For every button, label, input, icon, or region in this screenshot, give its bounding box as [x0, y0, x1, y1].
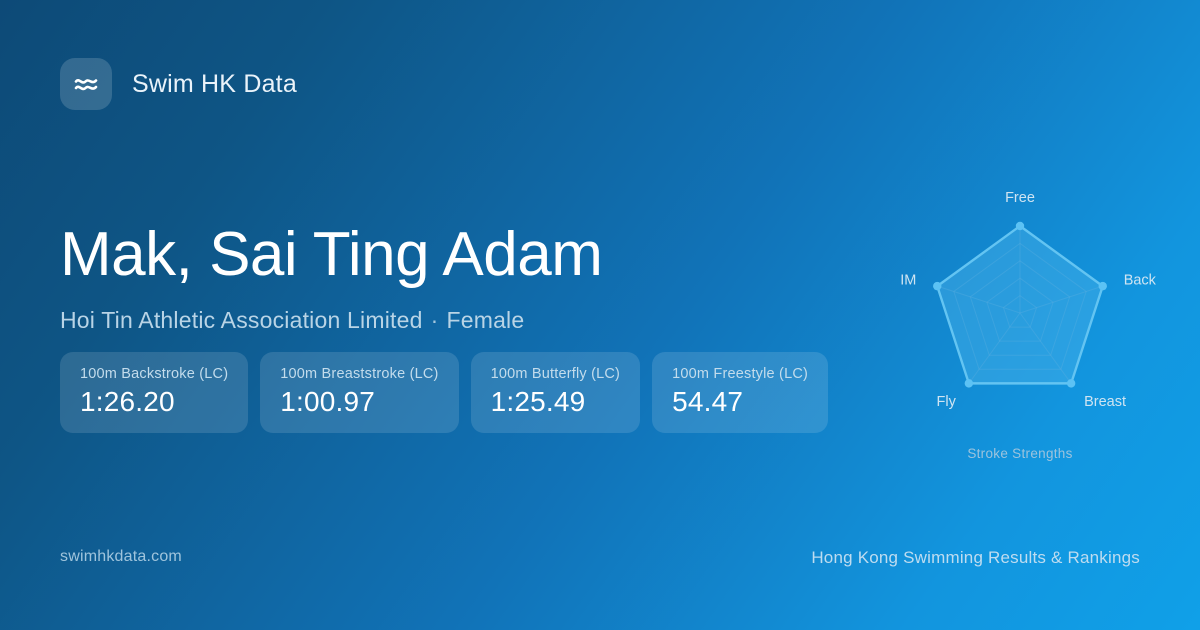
- radar-axis-label-breast: Breast: [1084, 394, 1126, 410]
- radar-point-back[interactable]: [1099, 282, 1107, 290]
- stat-label: 100m Freestyle (LC): [672, 366, 808, 382]
- footer-site-url[interactable]: swimhkdata.com: [60, 548, 182, 566]
- stat-card[interactable]: 100m Backstroke (LC) 1:26.20: [60, 352, 248, 433]
- radar-point-free[interactable]: [1016, 222, 1024, 230]
- stat-value: 1:25.49: [491, 386, 621, 418]
- stat-label: 100m Backstroke (LC): [80, 366, 228, 382]
- athlete-hero: Mak, Sai Ting Adam Hoi Tin Athletic Asso…: [60, 222, 602, 334]
- footer-tagline: Hong Kong Swimming Results & Rankings: [811, 548, 1140, 568]
- athlete-gender: Female: [446, 307, 524, 333]
- stat-card[interactable]: 100m Butterfly (LC) 1:25.49: [471, 352, 641, 433]
- radar-axis-label-fly: Fly: [937, 394, 957, 410]
- radar-data-polygon: [937, 226, 1102, 383]
- meta-separator: ·: [423, 307, 447, 333]
- stat-value: 1:00.97: [280, 386, 438, 418]
- stroke-strengths-radar-chart: FreeBackBreastFlyIM Stroke Strengths: [870, 170, 1170, 470]
- brand-header[interactable]: Swim HK Data: [60, 58, 297, 110]
- radar-axis-label-free: Free: [1005, 190, 1035, 206]
- brand-name: Swim HK Data: [132, 70, 297, 99]
- stat-card[interactable]: 100m Freestyle (LC) 54.47: [652, 352, 828, 433]
- radar-point-breast[interactable]: [1067, 379, 1075, 387]
- radar-point-fly[interactable]: [965, 379, 973, 387]
- athlete-meta: Hoi Tin Athletic Association Limited·Fem…: [60, 307, 602, 334]
- chart-caption: Stroke Strengths: [967, 446, 1072, 461]
- stat-value: 1:26.20: [80, 386, 228, 418]
- best-times-list: 100m Backstroke (LC) 1:26.20 100m Breast…: [60, 352, 828, 433]
- wave-icon: [60, 58, 112, 110]
- stat-label: 100m Breaststroke (LC): [280, 366, 438, 382]
- radar-axis-label-back: Back: [1124, 272, 1157, 288]
- stat-label: 100m Butterfly (LC): [491, 366, 621, 382]
- stat-value: 54.47: [672, 386, 808, 418]
- radar-axis-label-im: IM: [900, 272, 916, 288]
- athlete-club: Hoi Tin Athletic Association Limited: [60, 307, 423, 333]
- radar-point-im[interactable]: [933, 282, 941, 290]
- stat-card[interactable]: 100m Breaststroke (LC) 1:00.97: [260, 352, 458, 433]
- page-title: Mak, Sai Ting Adam: [60, 222, 602, 287]
